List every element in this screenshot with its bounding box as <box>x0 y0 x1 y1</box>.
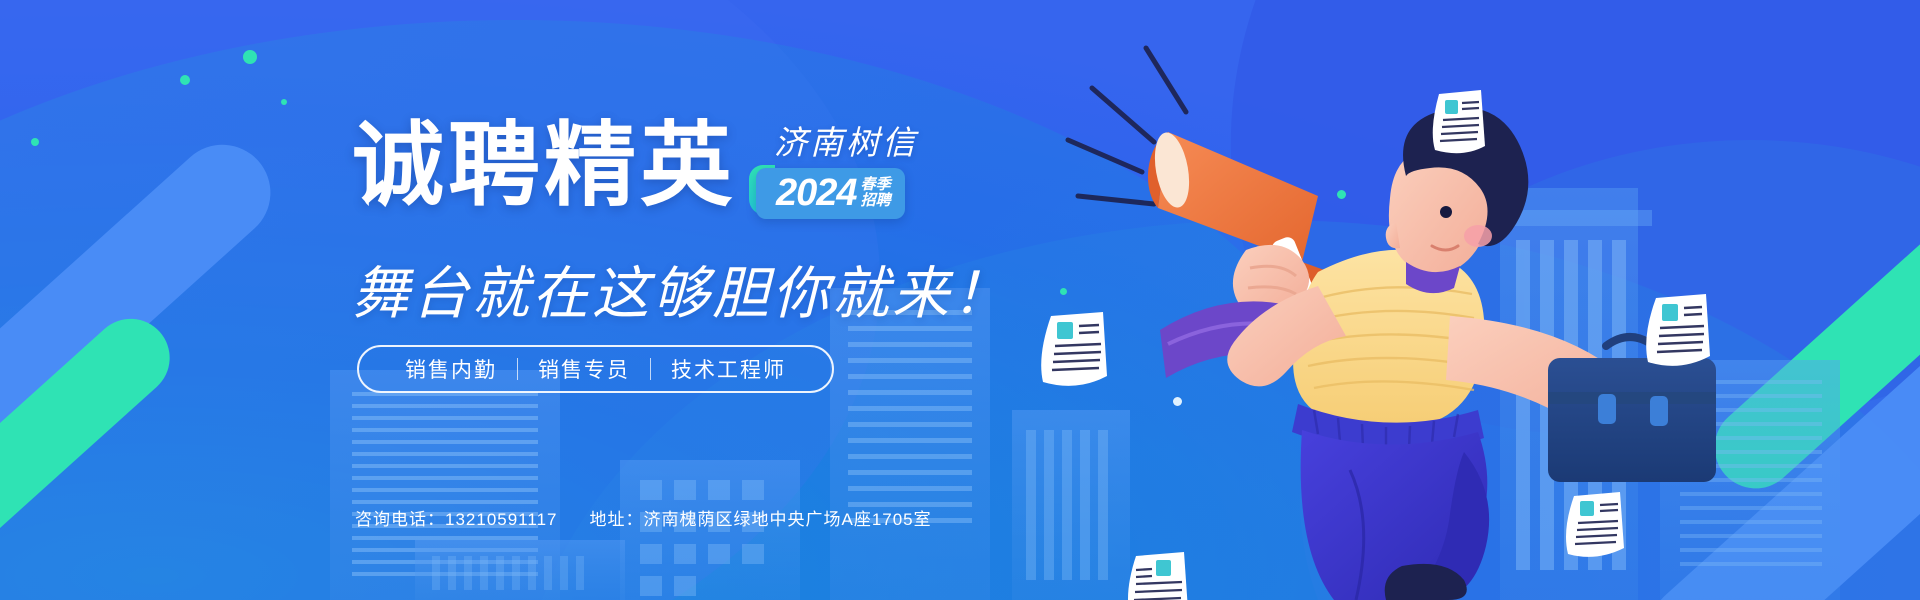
position-item-0[interactable]: 销售内勤 <box>385 354 517 384</box>
banner-content: 诚聘精英 济南树信 2024 春季 招聘 舞台就在这够胆你就来！ 销售内勤 <box>0 0 1100 600</box>
contact-phone: 咨询电话：13210591117 <box>355 505 557 530</box>
season-badge: 2024 春季 招聘 <box>756 168 905 219</box>
badge-season-line1: 春季 <box>861 177 891 193</box>
character-cheek <box>1464 225 1492 247</box>
badge-season-label: 春季 招聘 <box>861 177 891 209</box>
resume-paper-icon <box>1640 292 1716 376</box>
resume-paper-icon <box>1122 550 1192 600</box>
company-name: 济南树信 <box>774 126 918 159</box>
badge-season-line2: 招聘 <box>861 193 891 209</box>
page-title: 诚聘精英 <box>352 120 736 212</box>
company-badge-group: 济南树信 2024 春季 招聘 <box>756 126 918 219</box>
position-item-2[interactable]: 技术工程师 <box>651 354 806 384</box>
contact-address: 地址：济南槐荫区绿地中央广场A座1705室 <box>589 505 931 530</box>
positions-pill: 销售内勤 销售专员 技术工程师 <box>357 345 834 393</box>
character-eye <box>1440 206 1452 218</box>
resume-paper-icon <box>1560 490 1628 566</box>
resume-paper-icon <box>1427 88 1489 162</box>
badge-body: 2024 春季 招聘 <box>756 168 905 219</box>
resume-paper-icon <box>1035 310 1113 396</box>
contact-row: 咨询电话：13210591117 地址：济南槐荫区绿地中央广场A座1705室 <box>355 505 932 530</box>
recruitment-banner: 诚聘精英 济南树信 2024 春季 招聘 舞台就在这够胆你就来！ 销售内勤 <box>0 0 1920 600</box>
subtitle: 舞台就在这够胆你就来！ <box>352 248 1012 330</box>
position-item-1[interactable]: 销售专员 <box>518 354 650 384</box>
badge-year: 2024 <box>776 174 857 212</box>
headline-row: 诚聘精英 济南树信 2024 春季 招聘 <box>352 120 918 219</box>
